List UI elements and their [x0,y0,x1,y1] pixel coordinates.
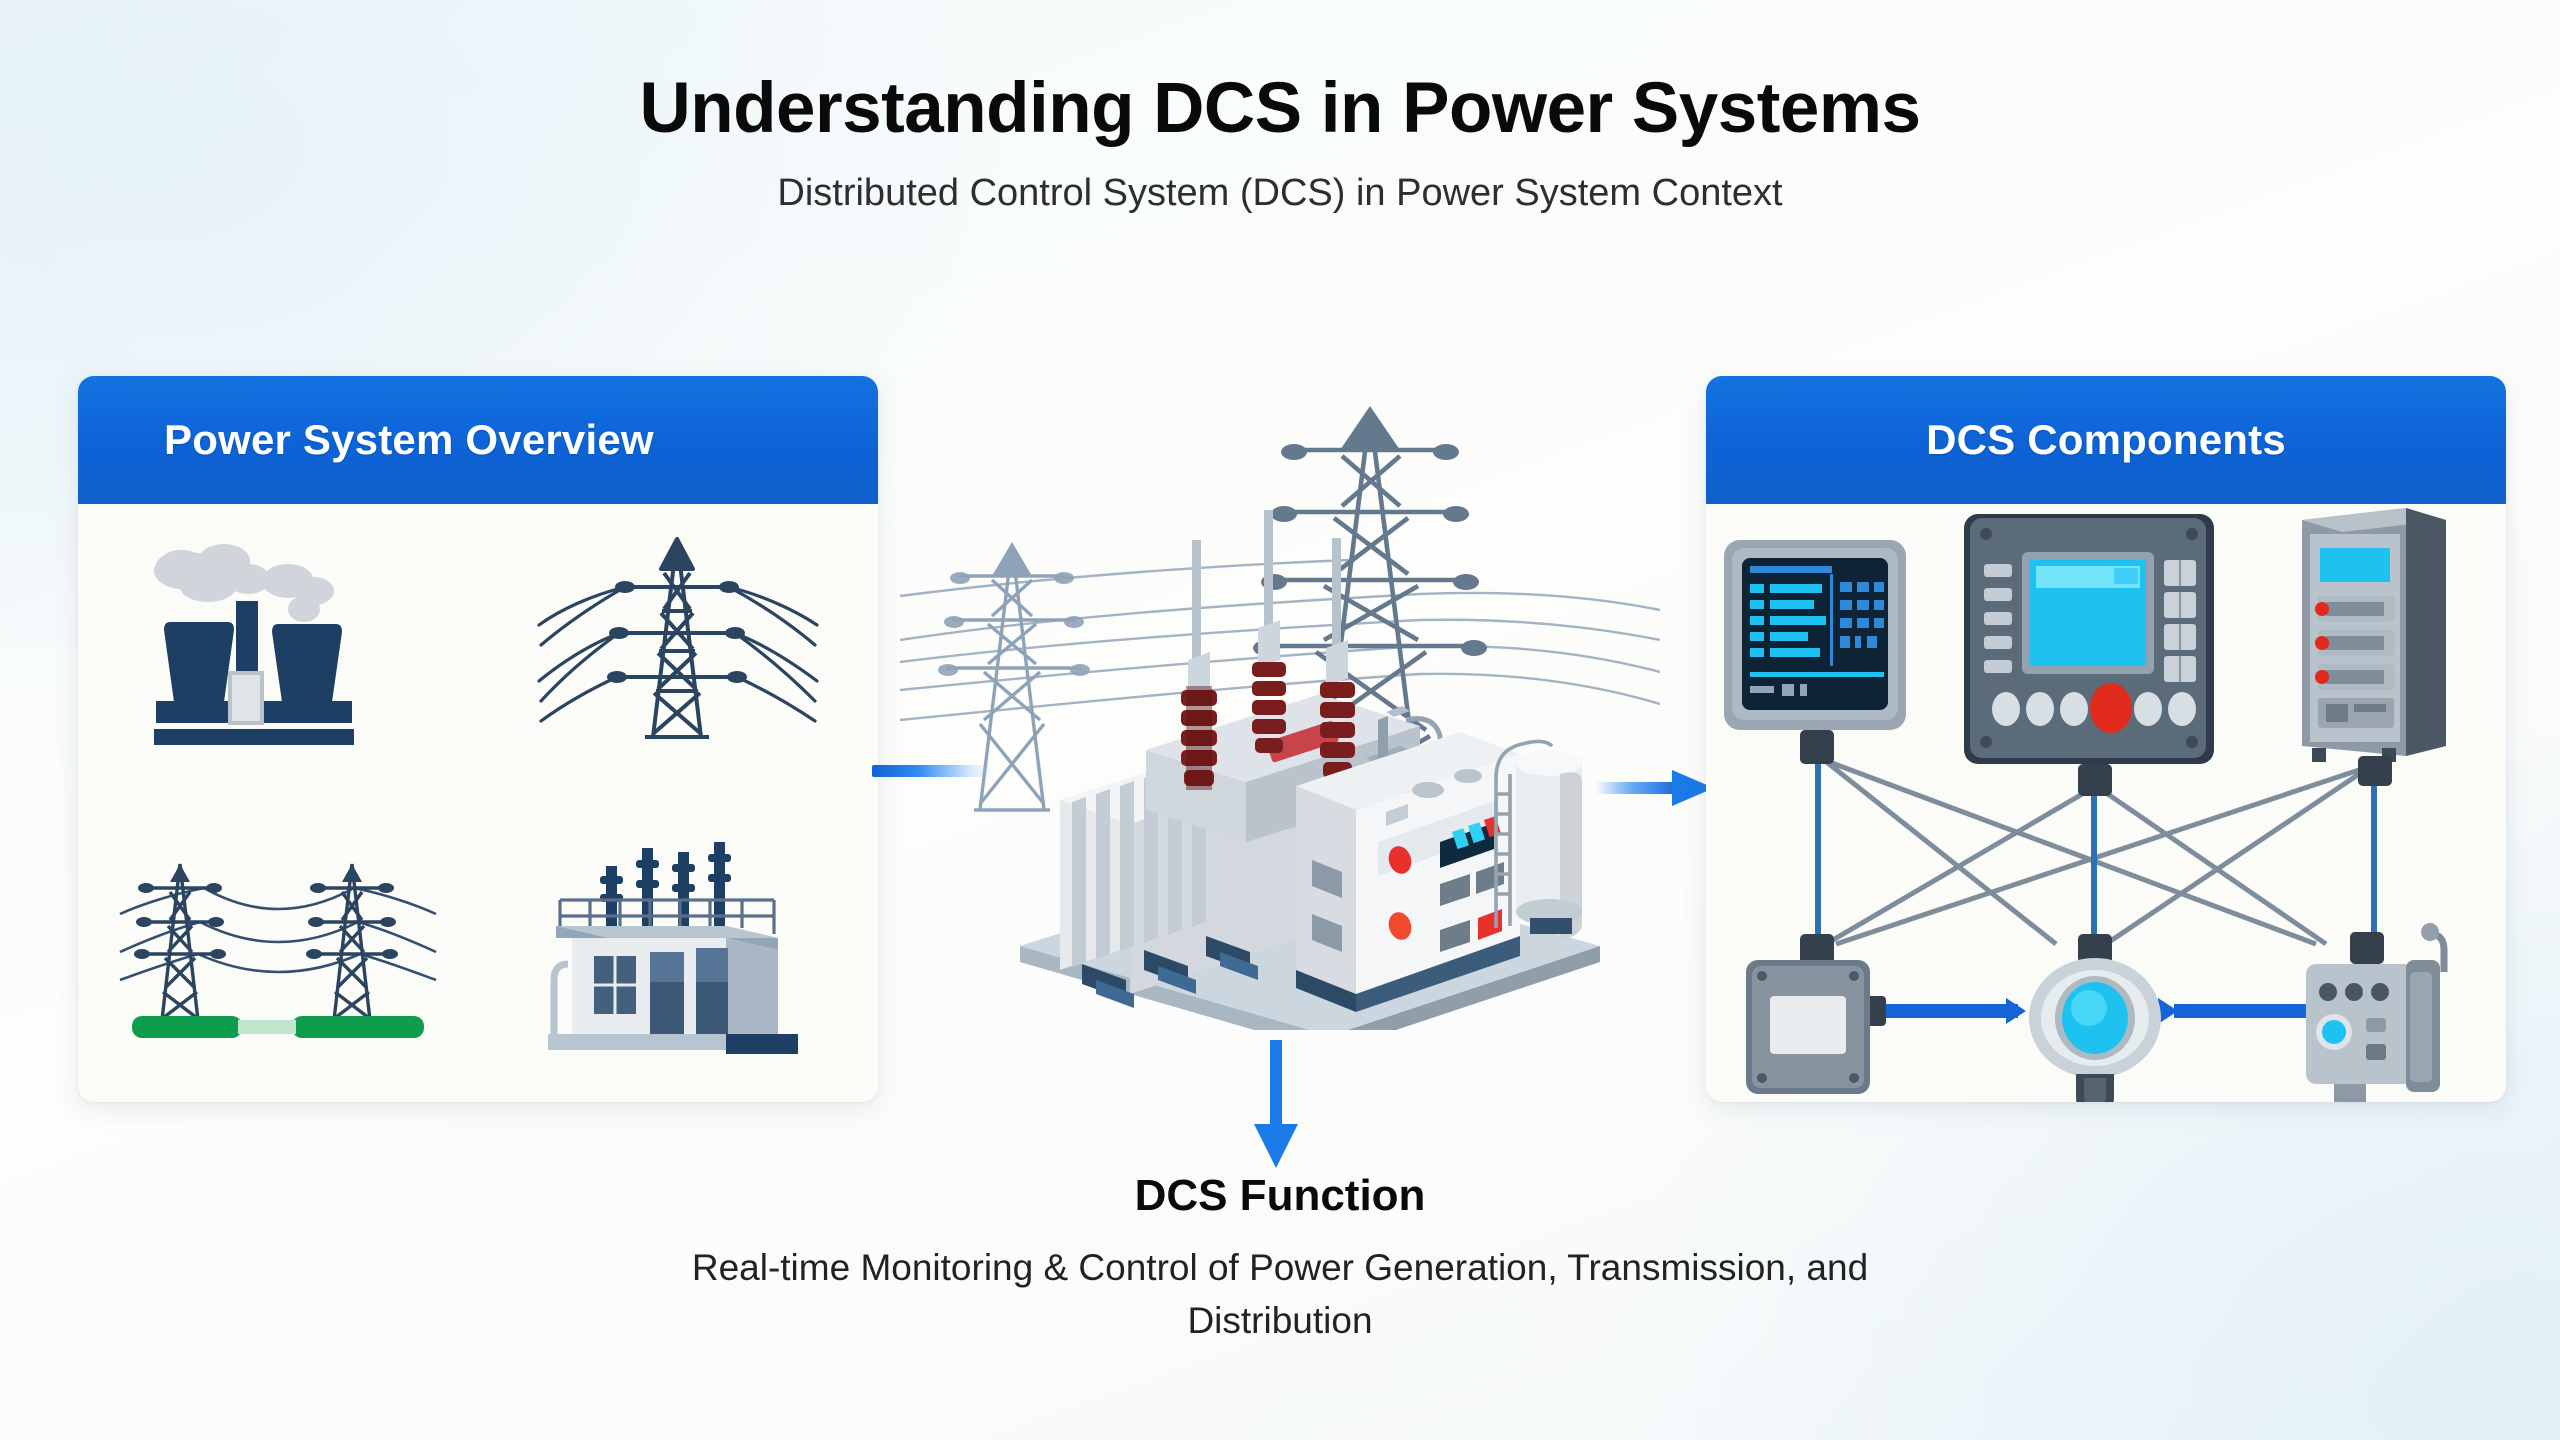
infographic-canvas: Understanding DCS in Power Systems Distr… [0,0,2560,1440]
flow-arrow-right-icon [1596,764,1716,812]
power-plant-icon [78,504,478,803]
central-substation-illustration [900,390,1660,1030]
panel-dcs-components[interactable]: DCS Components [1706,376,2506,1102]
field-sensor-icon [2029,934,2161,1102]
panel-right-body [1706,504,2506,1102]
flow-arrow-left-to-center [872,765,992,777]
panel-left-header: Power System Overview [78,376,878,504]
page-title: Understanding DCS in Power Systems [0,72,2560,147]
substation-building-icon [478,803,878,1102]
io-module-icon [1746,934,1870,1094]
flow-arrow-center-to-footer [1252,1040,1300,1170]
flow-arrow-center-to-right [1596,764,1716,812]
page-subtitle: Distributed Control System (DCS) in Powe… [0,173,2560,215]
transmission-line-icon [78,803,478,1102]
transmission-tower-icon [478,504,878,803]
central-substation-graphic [900,390,1660,1030]
power-system-icon-grid [78,504,878,1102]
panel-left-title: Power System Overview [164,416,654,464]
power-plant-graphic [128,529,428,779]
footer-description: Real-time Monitoring & Control of Power … [650,1242,1910,1347]
flow-arrow-down-icon [1252,1040,1300,1170]
transmission-tower-graphic [533,529,823,779]
header: Understanding DCS in Power Systems Distr… [0,72,2560,214]
dcs-network-graphic [1706,504,2506,1102]
panel-right-title: DCS Components [1926,416,2286,464]
field-transmitter-icon [2304,923,2444,1102]
footer: DCS Function Real-time Monitoring & Cont… [0,1172,2560,1347]
substation-building-graphic [528,838,828,1068]
operator-panel-icon [1964,514,2214,796]
panel-right-header: DCS Components [1706,376,2506,504]
panel-power-system-overview[interactable]: Power System Overview [78,376,878,1102]
panel-left-body [78,504,878,1102]
hmi-workstation-icon [1724,540,1906,764]
footer-title: DCS Function [0,1172,2560,1220]
transmission-line-graphic [118,838,438,1068]
controller-rack-icon [2302,508,2446,786]
